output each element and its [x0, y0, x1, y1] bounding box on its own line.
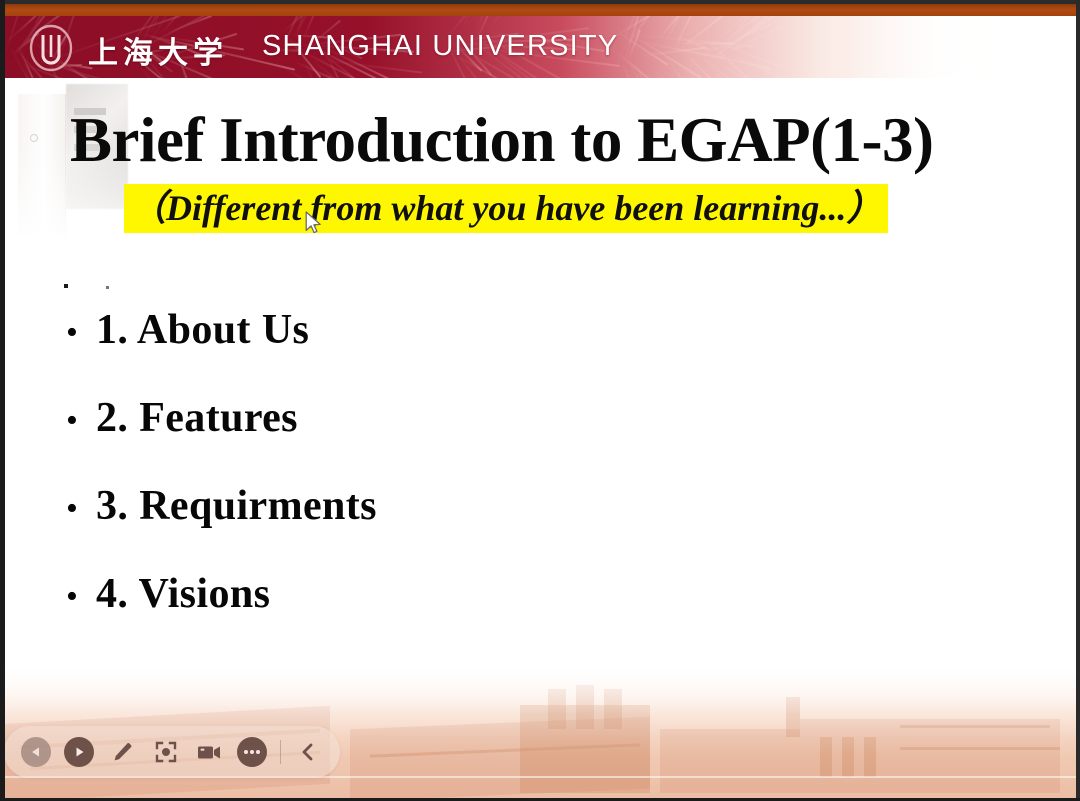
empty-bullet-marks: [64, 282, 124, 294]
chevron-left-icon: [297, 741, 319, 763]
list-item: • 1. About Us: [62, 306, 862, 394]
play-button[interactable]: [60, 732, 97, 772]
bullet-label: 3. Requirments: [96, 482, 377, 530]
bullet-label: 1. About Us: [96, 306, 309, 354]
list-item: • 2. Features: [62, 394, 862, 482]
bullet-label: 2. Features: [96, 394, 298, 442]
bullet-dot-icon: •: [62, 492, 96, 526]
orange-accent-bar: [0, 4, 1080, 16]
bullet-dot-icon: •: [62, 404, 96, 438]
window-border-right: [1076, 0, 1080, 801]
collapse-button[interactable]: [290, 732, 327, 772]
list-item: • 4. Visions: [62, 570, 862, 658]
list-item: • 3. Requirments: [62, 482, 862, 570]
university-name-zh: 上海大学: [88, 28, 228, 72]
bullet-dot-icon: •: [62, 316, 96, 350]
capture-frame-icon: [153, 739, 179, 765]
triangle-left-icon: [21, 737, 51, 767]
video-camera-icon: [195, 739, 223, 765]
screenshot-button[interactable]: [147, 732, 184, 772]
bullet-dot-icon: •: [62, 580, 96, 614]
pencil-icon: [109, 739, 135, 765]
bullet-label: 4. Visions: [96, 570, 270, 618]
window-border-top: [0, 0, 1080, 4]
slide-bullet-list: • 1. About Us • 2. Features • 3. Requirm…: [62, 306, 862, 658]
window-border-left: [0, 0, 5, 801]
ellipsis-icon: [237, 737, 267, 767]
slide-subtitle: （Different from what you have been learn…: [124, 184, 888, 233]
banner-right-fade: [850, 16, 1080, 78]
slide-subtitle-wrapper: （Different from what you have been learn…: [124, 184, 888, 233]
play-icon: [64, 737, 94, 767]
university-name-en: SHANGHAI UNIVERSITY: [262, 30, 618, 63]
slide-title: Brief Introduction to EGAP(1-3): [70, 104, 934, 177]
shanghai-university-u-emblem-icon: [28, 24, 74, 72]
annotate-button[interactable]: [104, 732, 141, 772]
more-button[interactable]: [233, 732, 270, 772]
slide-viewer-window: 上海大学 SHANGHAI UNIVERSITY Brief Introduct…: [0, 0, 1080, 801]
previous-button[interactable]: [17, 732, 54, 772]
player-toolbar[interactable]: [4, 726, 340, 778]
record-button[interactable]: [190, 732, 227, 772]
toolbar-divider: [280, 740, 281, 764]
